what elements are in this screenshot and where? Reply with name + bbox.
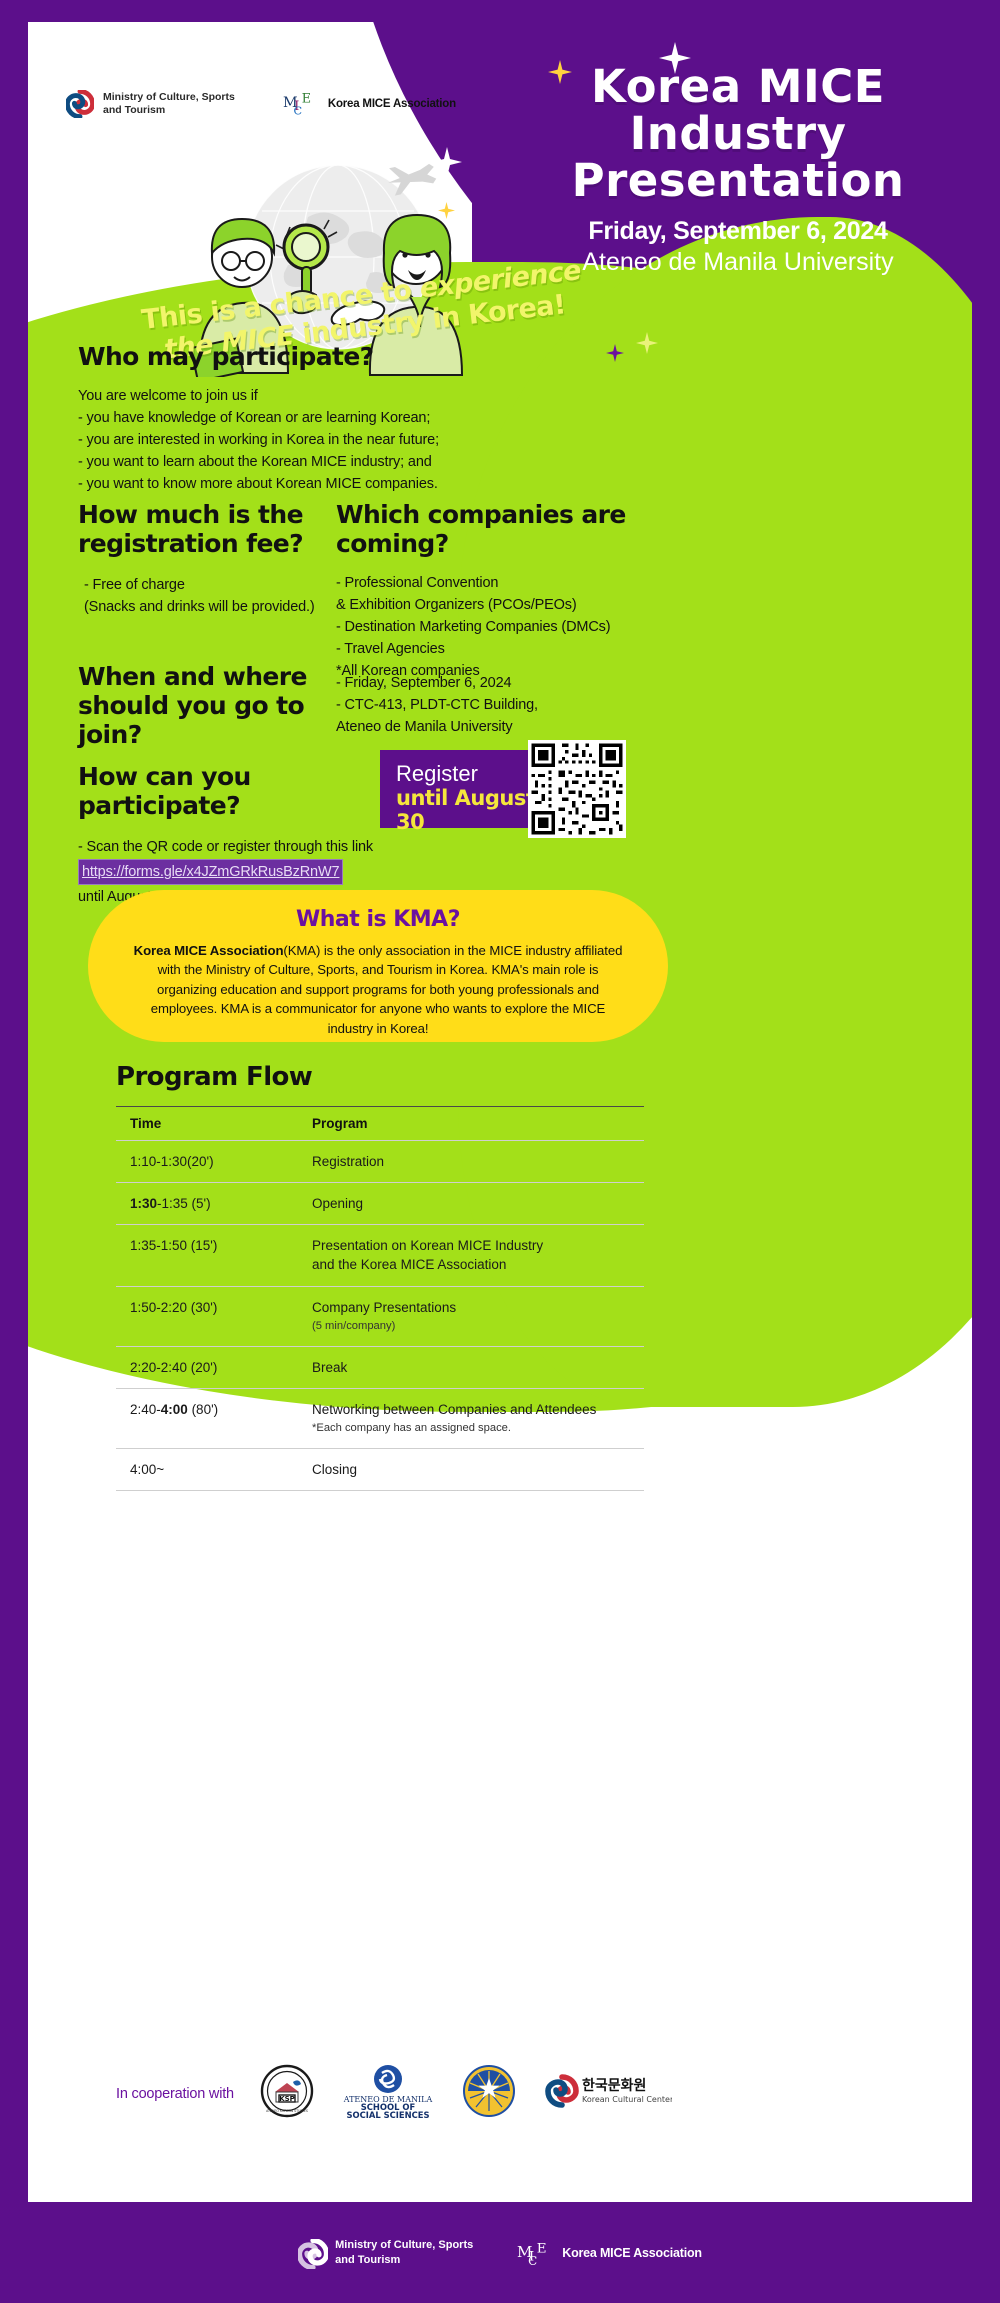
poster-root: Ministry of Culture, Sports and Tourism … [0, 0, 1000, 2303]
who-line: - you want to learn about the Korean MIC… [78, 451, 598, 473]
svg-text:E: E [302, 92, 311, 107]
kma-line-1-rest: (KMA) is the only association in the MIC… [283, 943, 570, 958]
ateneo-sss-logo: ATENEO DE MANILA SCHOOL OF SOCIAL SCIENC… [342, 2062, 434, 2125]
cell-time-bold: 1:30 [130, 1196, 157, 1211]
footer-ministry-label: Ministry of Culture, Sports and Tourism [335, 2238, 473, 2266]
cell-time: 4:00~ [116, 1448, 298, 1490]
companies-line: & Exhibition Organizers (PCOs/PEOs) [336, 594, 686, 616]
cell-program-subnote: (5 min/company) [312, 1319, 644, 1335]
when-line: - CTC-413, PLDT-CTC Building, [336, 694, 656, 716]
top-logos: Ministry of Culture, Sports and Tourism … [66, 90, 456, 118]
section-when-and-where: When and where should you go to join? [78, 662, 338, 759]
poster-title-block: Korea MICE Industry Presentation Friday,… [498, 64, 972, 277]
table-row: 1:30-1:35 (5')Opening [116, 1183, 644, 1225]
kma-logo: M I C E Korea MICE Association [283, 90, 456, 118]
table-row: 1:50-2:20 (30')Company Presentations(5 m… [116, 1286, 644, 1346]
ksp-logo: KSP ATENEO KOREAN STUDIES [260, 2064, 314, 2123]
column-header-program: Program [298, 1107, 644, 1141]
sparkle-icon [438, 202, 455, 219]
footer-ministry-logo: Ministry of Culture, Sports and Tourism [298, 2238, 473, 2266]
taegeuk-icon [66, 90, 94, 118]
who-line: - you have knowledge of Korean or are le… [78, 407, 598, 429]
when-line: - Friday, September 6, 2024 [336, 672, 656, 694]
cooperation-row: In cooperation with KSP ATENEO KOREAN ST… [116, 2062, 906, 2125]
sparkle-icon [432, 147, 462, 177]
companies-body: - Professional Convention & Exhibition O… [336, 572, 686, 682]
cell-program: Registration [298, 1141, 644, 1183]
cell-program: Company Presentations(5 min/company) [298, 1286, 644, 1346]
fee-heading: How much is the registration fee? [78, 500, 338, 558]
sparkle-icon [606, 344, 624, 362]
footer-kma-label: Korea MICE Association [562, 2246, 702, 2260]
cell-time: 1:10-1:30(20') [116, 1141, 298, 1183]
sparkle-icon [636, 332, 658, 354]
section-how-to-participate: How can you participate? - Scan the QR c… [78, 762, 408, 908]
kma-info-box: What is KMA? Korea MICE Association(KMA)… [88, 890, 668, 1042]
sparkle-icon [548, 60, 572, 84]
table-row: 1:10-1:30(20')Registration [116, 1141, 644, 1183]
when-heading: When and where should you go to join? [78, 662, 338, 749]
when-line: Ateneo de Manila University [336, 716, 656, 738]
footer-bar: Ministry of Culture, Sports and Tourism … [0, 2202, 1000, 2303]
register-deadline: until August 30 [396, 786, 538, 834]
svg-text:SOCIAL SCIENCES: SOCIAL SCIENCES [346, 2110, 429, 2120]
poster-card: Ministry of Culture, Sports and Tourism … [28, 22, 972, 2202]
svg-text:Korean Cultural Center: Korean Cultural Center [582, 2095, 672, 2104]
svg-text:E: E [537, 2241, 547, 2256]
table-row: 2:40-4:00 (80')Networking between Compan… [116, 1388, 644, 1448]
svg-text:C: C [293, 105, 302, 118]
register-callout-box: Register until August 30 [380, 750, 538, 828]
taegeuk-icon [298, 2239, 326, 2267]
register-label: Register [396, 762, 538, 786]
who-line: You are welcome to join us if [78, 385, 598, 407]
table-row: 4:00~Closing [116, 1448, 644, 1490]
companies-line: - Travel Agencies [336, 638, 686, 660]
when-body: - Friday, September 6, 2024 - CTC-413, P… [336, 672, 656, 738]
title-line-3: Presentation [498, 158, 972, 205]
fee-body: - Free of charge (Snacks and drinks will… [78, 574, 338, 618]
svg-text:ATENEO KOREAN STUDIES: ATENEO KOREAN STUDIES [266, 2109, 308, 2113]
footer-kma-logo: M I C E Korea MICE Association [517, 2239, 702, 2267]
companies-line: - Professional Convention [336, 572, 686, 594]
program-flow-table: Time Program 1:10-1:30(20')Registration1… [116, 1106, 644, 1491]
who-line: - you want to know more about Korean MIC… [78, 473, 598, 495]
title-line-2: Industry [498, 111, 972, 158]
cooperation-logos: KSP ATENEO KOREAN STUDIES ATENEO DE MANI… [260, 2062, 672, 2125]
ministry-logo: Ministry of Culture, Sports and Tourism [66, 90, 235, 118]
event-date: Friday, September 6, 2024 [498, 216, 972, 247]
how-heading: How can you participate? [78, 762, 408, 820]
when-heading-line-1: When and where [78, 662, 307, 691]
kma-logo-label: Korea MICE Association [328, 98, 456, 110]
svg-text:한국문화원: 한국문화원 [582, 2078, 646, 2094]
cell-program: Opening [298, 1183, 644, 1225]
svg-text:C: C [528, 2254, 537, 2268]
section-who-may-participate: Who may participate? You are welcome to … [78, 342, 598, 495]
ministry-logo-label: Ministry of Culture, Sports and Tourism [103, 91, 235, 118]
fee-line: (Snacks and drinks will be provided.) [84, 596, 338, 618]
who-heading: Who may participate? [78, 342, 598, 371]
cell-program: Closing [298, 1448, 644, 1490]
cell-time: 1:50-2:20 (30') [116, 1286, 298, 1346]
who-body: You are welcome to join us if - you have… [78, 385, 598, 495]
cell-time: 2:20-2:40 (20') [116, 1346, 298, 1388]
cell-program: Networking between Companies and Attende… [298, 1388, 644, 1448]
when-heading-line-2: should you go to join? [78, 691, 304, 749]
kma-title: What is KMA? [130, 907, 626, 932]
who-line: - you are interested in working in Korea… [78, 429, 598, 451]
fee-heading-line-1: How much is [78, 500, 250, 529]
column-header-time: Time [116, 1107, 298, 1141]
svg-text:KSP: KSP [279, 2095, 295, 2103]
cell-time: 2:40-4:00 (80') [116, 1388, 298, 1448]
section-registration-fee: How much is the registration fee? - Free… [78, 500, 338, 618]
section-which-companies: Which companies are coming? - Profession… [336, 500, 686, 682]
mice-monogram-icon: M I C E [283, 90, 319, 118]
mice-monogram-icon: M I C E [517, 2239, 553, 2267]
cell-program-subnote: *Each company has an assigned space. [312, 1421, 644, 1437]
office-of-placement-logo [462, 2064, 516, 2123]
companies-heading: Which companies are coming? [336, 500, 686, 558]
kma-bold-lead: Korea MICE Association [134, 943, 284, 958]
cell-time-bold: 4:00 [161, 1402, 188, 1417]
companies-line: - Destination Marketing Companies (DMCs) [336, 616, 686, 638]
cell-program: Break [298, 1346, 644, 1388]
cooperation-label: In cooperation with [116, 2086, 234, 2102]
registration-link[interactable]: https://forms.gle/x4JZmGRkRusBzRnW7 [78, 859, 343, 885]
how-line-1: - Scan the QR code or register through t… [78, 836, 408, 858]
kma-body: Korea MICE Association(KMA) is the only … [130, 941, 626, 1038]
program-flow-section: Program Flow Time Program 1:10-1:30(20')… [116, 1062, 644, 1491]
cell-time: 1:35-1:50 (15') [116, 1225, 298, 1286]
cell-time: 1:30-1:35 (5') [116, 1183, 298, 1225]
qr-code[interactable] [528, 740, 626, 838]
program-flow-title: Program Flow [116, 1062, 644, 1092]
korean-cultural-center-logo: 한국문화원 Korean Cultural Center [544, 2071, 672, 2116]
table-header-row: Time Program [116, 1107, 644, 1141]
cell-program: Presentation on Korean MICE Industryand … [298, 1225, 644, 1286]
table-row: 1:35-1:50 (15')Presentation on Korean MI… [116, 1225, 644, 1286]
program-flow-body: 1:10-1:30(20')Registration1:30-1:35 (5')… [116, 1141, 644, 1491]
table-row: 2:20-2:40 (20')Break [116, 1346, 644, 1388]
fee-line: - Free of charge [84, 574, 338, 596]
sparkle-icon [659, 42, 691, 74]
